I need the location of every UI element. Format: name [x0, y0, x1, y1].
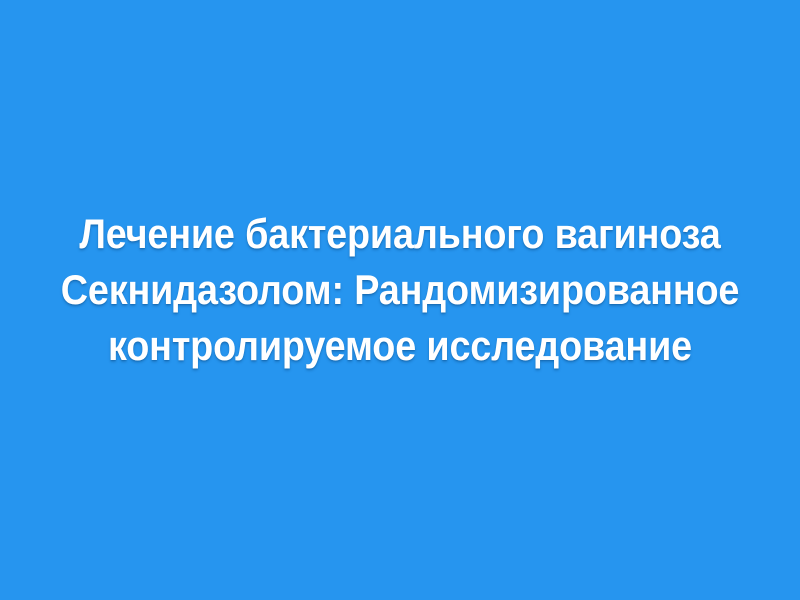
title-line-2: Секнидазолом: Рандомизированное: [58, 262, 742, 318]
page-title: Лечение бактериального вагиноза Секнидаз…: [20, 206, 780, 374]
title-line-3: контролируемое исследование: [58, 318, 742, 374]
title-line-1: Лечение бактериального вагиноза: [58, 206, 742, 262]
title-card: Лечение бактериального вагиноза Секнидаз…: [0, 0, 800, 600]
